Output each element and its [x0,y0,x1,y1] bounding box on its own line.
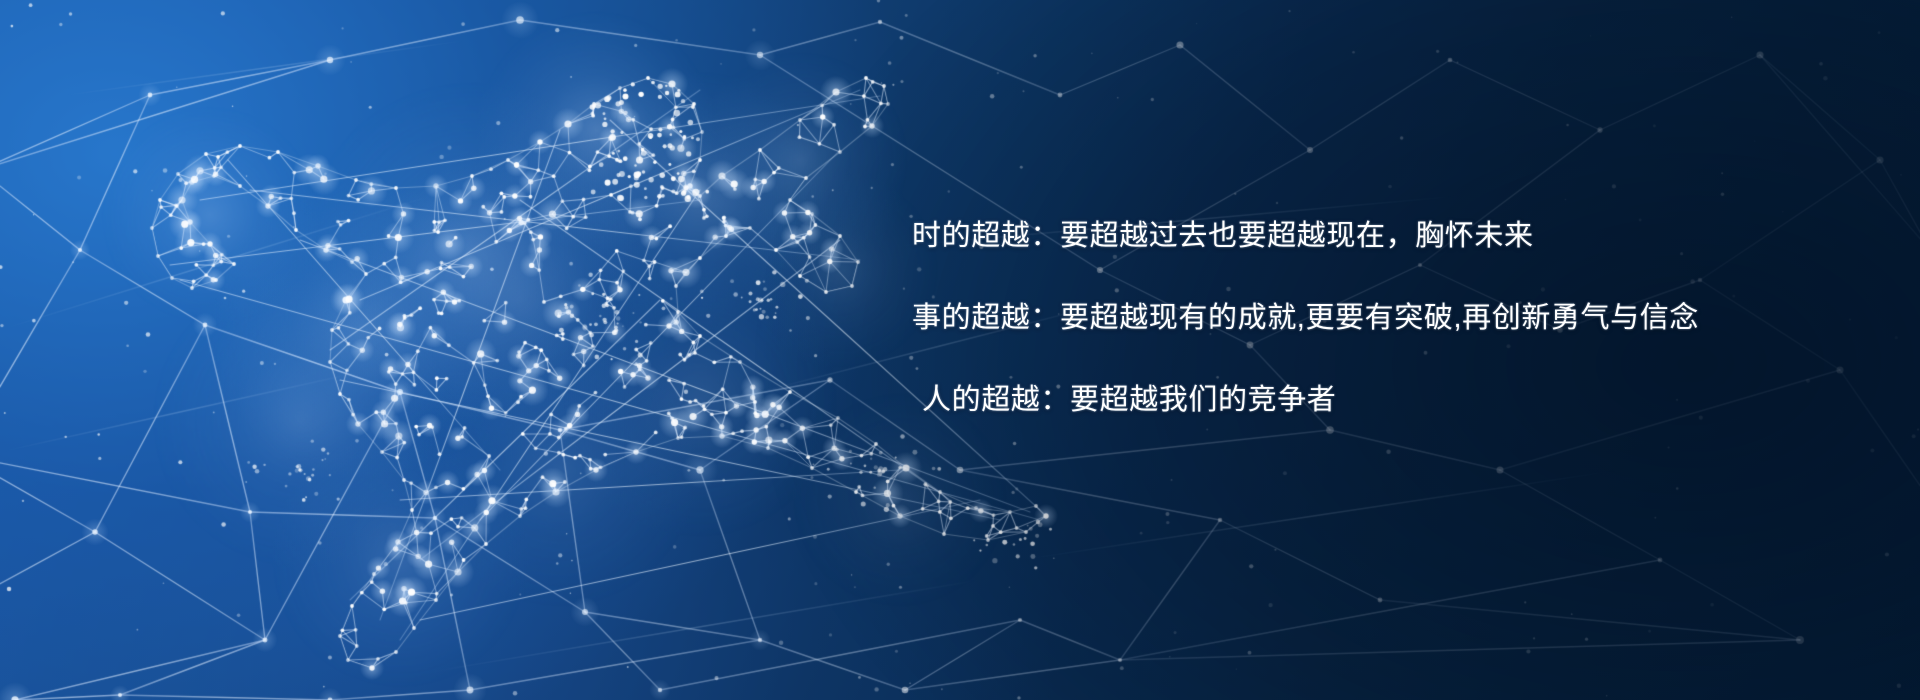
hero-banner: 时的超越：要超越过去也要超越现在，胸怀未来 事的超越：要超越现有的成就,更要有突… [0,0,1920,700]
tagline-time: 时的超越：要超越过去也要超越现在，胸怀未来 [912,222,1842,251]
tagline-block: 时的超越：要超越过去也要超越现在，胸怀未来 事的超越：要超越现有的成就,更要有突… [912,222,1842,415]
tagline-matter: 事的超越：要超越现有的成就,更要有突破,再创新勇气与信念 [912,304,1842,333]
tagline-people: 人的超越：要超越我们的竞争者 [922,386,1842,415]
